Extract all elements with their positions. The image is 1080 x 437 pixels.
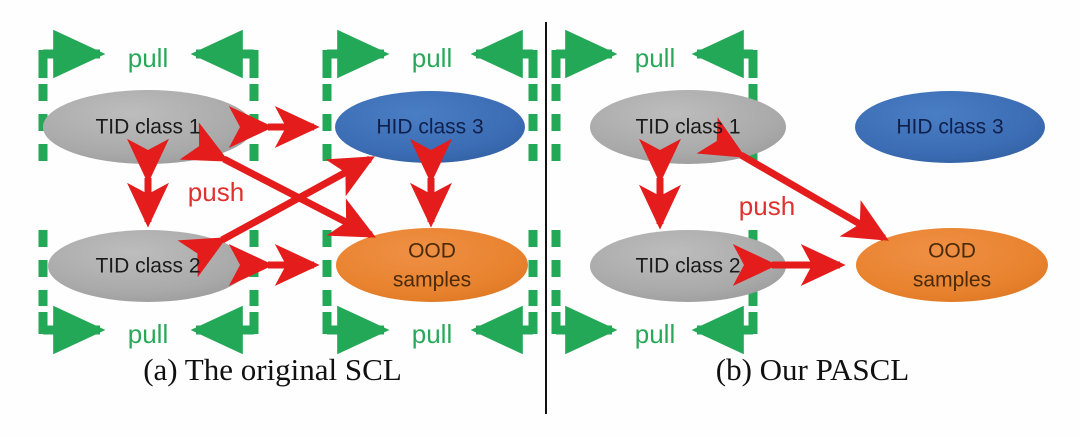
node-label-tid-class-1: TID class 1 (95, 116, 200, 139)
caption-panel-a: (a) The original SCL (0, 352, 545, 388)
node-label-ood-samples-line1: OOD (928, 240, 976, 263)
node-label-tid-class-2: TID class 2 (635, 255, 740, 278)
pull-label: pull (128, 43, 168, 73)
node-label-tid-class-1: TID class 1 (635, 116, 740, 139)
pull-label: pull (412, 43, 452, 73)
figure-root: TID class 1 HID class 3 TID class 2 OOD … (0, 0, 1080, 437)
node-label-ood-samples-line2: samples (393, 269, 471, 292)
node-label-ood-samples-line1: OOD (408, 240, 456, 263)
pull-label: pull (128, 319, 168, 349)
node-label-ood-samples-line2: samples (913, 269, 991, 292)
node-label-hid-class-3: HID class 3 (896, 116, 1003, 139)
caption-panel-b: (b) Our PASCL (545, 352, 1080, 388)
push-label: push (739, 191, 795, 221)
push-label: push (188, 177, 244, 207)
pull-label: pull (412, 319, 452, 349)
node-label-tid-class-2: TID class 2 (95, 255, 200, 278)
node-label-hid-class-3: HID class 3 (376, 116, 483, 139)
pull-label: pull (635, 319, 675, 349)
pull-label: pull (635, 43, 675, 73)
